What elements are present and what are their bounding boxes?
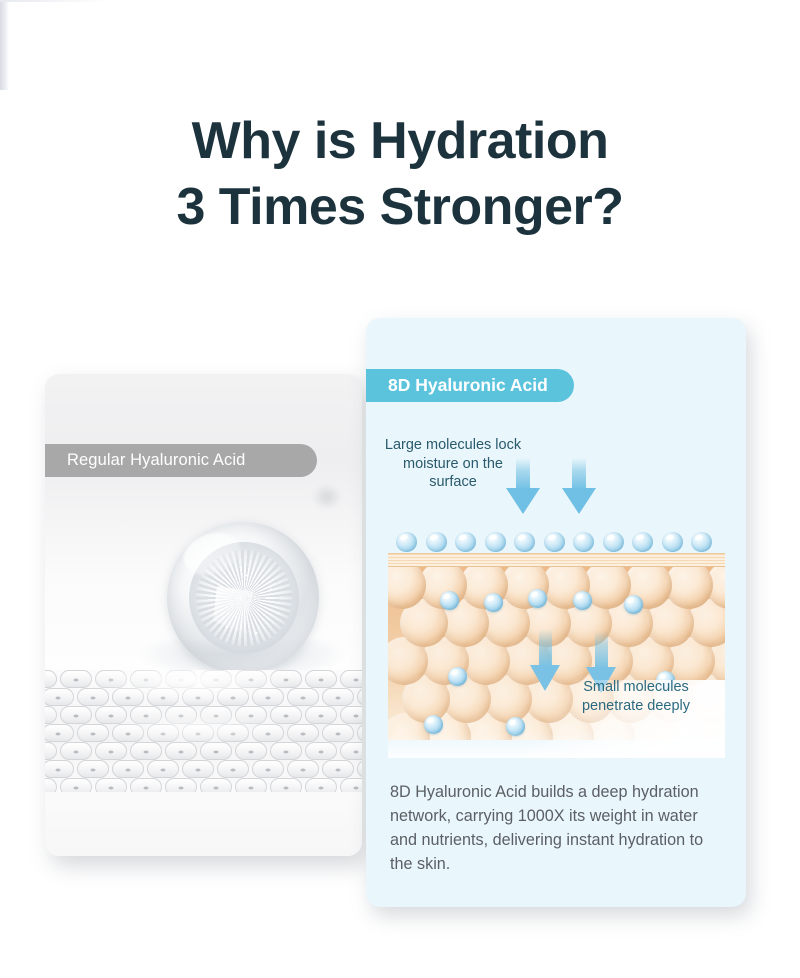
embedded-water-molecule-icon [624, 595, 643, 614]
skin-cell [252, 688, 284, 706]
skin-cell [217, 760, 249, 778]
lens-smudge-artifact [312, 484, 342, 510]
skin-cell [200, 742, 232, 760]
skin-cell [200, 778, 232, 792]
skin-cell [357, 760, 362, 778]
surface-water-molecule-icon [485, 532, 506, 552]
skin-cell [357, 688, 362, 706]
skin-cell [130, 778, 162, 792]
skin-cell [45, 742, 57, 760]
skin-cell [95, 670, 127, 688]
top-edge-artifact [0, 0, 800, 2]
skin-cell [77, 688, 109, 706]
skin-cell [305, 778, 337, 792]
regular-hyaluronic-acid-badge-label: Regular Hyaluronic Acid [67, 451, 245, 470]
skin-cell [130, 706, 162, 724]
surface-water-molecule-icon [632, 532, 653, 552]
skin-cell [45, 688, 74, 706]
skin-cell [60, 742, 92, 760]
skin-cell-row [45, 778, 362, 792]
skin-cell [217, 688, 249, 706]
skin-cell [340, 670, 362, 688]
surface-water-molecule-icon [455, 532, 476, 552]
skin-cell [95, 742, 127, 760]
skin-cell [45, 670, 57, 688]
skin-penetration-diagram [388, 526, 725, 758]
skin-cell [252, 760, 284, 778]
skin-cell [147, 688, 179, 706]
skin-cell [305, 670, 337, 688]
large-molecules-caption: Large molecules lock moisture on the sur… [382, 436, 524, 492]
small-molecules-caption: Small molecules penetrate deeply [556, 678, 716, 715]
surface-water-molecule-icon [691, 532, 712, 552]
skin-cell [200, 670, 232, 688]
8d-hyaluronic-acid-card: 8D Hyaluronic Acid Large molecules lock … [366, 318, 746, 907]
skin-cell [45, 724, 74, 742]
skin-cell [357, 724, 362, 742]
skin-cell [340, 742, 362, 760]
surface-water-molecule-icon [396, 532, 417, 552]
skin-cell [270, 670, 302, 688]
skin-cell [60, 670, 92, 688]
skin-cell [217, 724, 249, 742]
skin-cell [287, 688, 319, 706]
skin-cell [165, 742, 197, 760]
skin-cell [200, 706, 232, 724]
regular-hyaluronic-acid-card: Regular Hyaluronic Acid [45, 374, 362, 856]
skin-cell [60, 778, 92, 792]
skin-cell [45, 778, 57, 792]
skin-cell [130, 742, 162, 760]
embedded-water-molecule-icon [573, 591, 592, 610]
surface-arrows-group [506, 458, 626, 514]
left-edge-artifact [0, 0, 9, 90]
down-arrow-icon [506, 458, 540, 514]
skin-cell [322, 760, 354, 778]
embedded-water-molecule-icon [484, 593, 503, 612]
skin-cell [112, 760, 144, 778]
surface-water-molecule-icon [662, 532, 683, 552]
embedded-water-molecule-icon [440, 591, 459, 610]
skin-cell [270, 706, 302, 724]
skin-cell [45, 760, 74, 778]
product-description-text: 8D Hyaluronic Acid builds a deep hydrati… [390, 780, 726, 876]
skin-cell [340, 706, 362, 724]
skin-cell [322, 688, 354, 706]
skin-cell [287, 760, 319, 778]
page-title: Why is Hydration 3 Times Stronger? [0, 108, 800, 240]
page-title-line-2: 3 Times Stronger? [0, 174, 800, 240]
skin-cell [147, 724, 179, 742]
skin-cell [77, 760, 109, 778]
skin-cell [95, 778, 127, 792]
skin-cell [235, 778, 267, 792]
skin-cell-row [45, 706, 362, 725]
embedded-water-molecule-icon [528, 589, 547, 608]
embedded-water-molecule-icon [448, 667, 467, 686]
skin-cell [165, 706, 197, 724]
page-title-line-1: Why is Hydration [192, 112, 609, 170]
8d-hyaluronic-acid-badge: 8D Hyaluronic Acid [366, 369, 574, 402]
surface-water-molecule-icon [573, 532, 594, 552]
skin-cell [112, 688, 144, 706]
skin-cell-row [45, 670, 362, 689]
bottom-fade-overlay [388, 732, 725, 758]
regular-hyaluronic-acid-badge: Regular Hyaluronic Acid [45, 444, 317, 477]
skin-cell-row [45, 688, 362, 707]
skin-cell [305, 742, 337, 760]
down-arrow-icon [562, 458, 596, 514]
skin-cell [182, 724, 214, 742]
stratum-corneum-layer [388, 553, 725, 567]
skin-cell-row [45, 742, 362, 761]
skin-cell [130, 670, 162, 688]
skin-cell [60, 706, 92, 724]
skin-cell [305, 706, 337, 724]
skin-cell [95, 706, 127, 724]
surface-water-molecule-icon [603, 532, 624, 552]
skin-cell [165, 778, 197, 792]
skin-cell [45, 706, 57, 724]
grayscale-skin-cell-layer [45, 670, 362, 792]
skin-cell [340, 778, 362, 792]
skin-cell [182, 688, 214, 706]
skin-cell [112, 724, 144, 742]
surface-water-molecule-icon [544, 532, 565, 552]
marketing-infographic-page: Why is Hydration 3 Times Stronger? Regul… [0, 0, 800, 978]
surface-water-molecule-icon [426, 532, 447, 552]
surface-molecule-row [388, 526, 725, 556]
skin-cell [235, 706, 267, 724]
8d-hyaluronic-acid-badge-label: 8D Hyaluronic Acid [388, 375, 548, 396]
skin-cell [252, 724, 284, 742]
skin-cell [235, 670, 267, 688]
skin-cell-row [45, 724, 362, 743]
skin-cell [270, 742, 302, 760]
skin-cell [235, 742, 267, 760]
skin-cell [182, 760, 214, 778]
skin-cell [147, 760, 179, 778]
skin-cell-row [45, 760, 362, 779]
skin-cell [270, 778, 302, 792]
skin-cell [287, 724, 319, 742]
skin-cell [322, 724, 354, 742]
droplet-outer-sphere-icon [167, 522, 319, 674]
surface-water-molecule-icon [514, 532, 535, 552]
skin-cell [77, 724, 109, 742]
skin-cell [165, 670, 197, 688]
product-description: 8D Hyaluronic Acid builds a deep hydrati… [390, 780, 726, 876]
